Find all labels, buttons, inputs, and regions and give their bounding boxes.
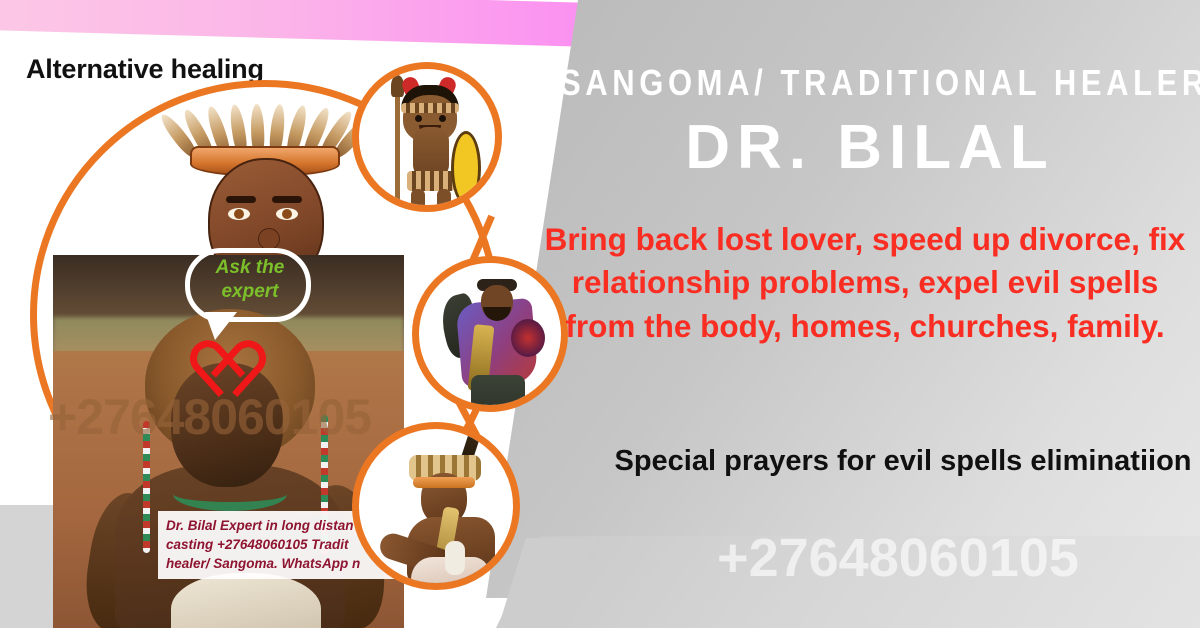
circle-thumb-zulu-warrior bbox=[352, 62, 502, 212]
special-offer-text: Special prayers for evil spells eliminat… bbox=[612, 442, 1194, 480]
subtitle-kicker: SANGOMA/ TRADITIONAL HEALER bbox=[560, 62, 1180, 104]
healer-name: DR. BILAL bbox=[560, 112, 1180, 183]
speech-bubble-label: Ask the expert bbox=[196, 256, 304, 304]
bottom-left-gray-block bbox=[0, 505, 54, 628]
caption-line-3: healer/ Sangoma. WhatsApp n bbox=[166, 554, 398, 573]
phone-watermark: +27648060105 bbox=[600, 527, 1196, 589]
page-title: Alternative healing bbox=[26, 54, 264, 85]
services-text: Bring back lost lover, speed up divorce,… bbox=[540, 218, 1190, 348]
poster-canvas: Alternative healing bbox=[0, 0, 1200, 628]
top-bar-pink bbox=[0, 0, 598, 47]
photo-phone-watermark: +27648060105 bbox=[48, 388, 371, 446]
circle-thumb-crouching-healer bbox=[352, 422, 520, 590]
